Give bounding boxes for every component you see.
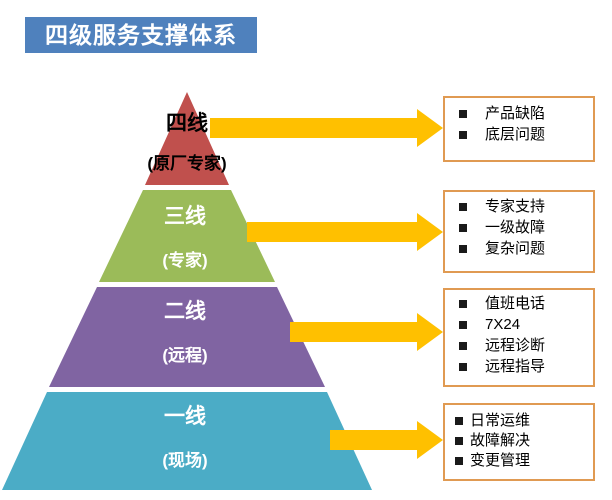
- callout-2-item-2: 远程诊断: [485, 338, 545, 353]
- callout-4-item-1: 底层问题: [485, 127, 545, 142]
- list-item: 故障解决: [445, 433, 593, 448]
- list-item: 远程指导: [445, 359, 593, 374]
- square-bullet-icon: [459, 342, 467, 350]
- diagram-canvas: 四级服务支撑体系 四线 (原厂专家) 三线 (专家) 二线 (远程) 一线 (现…: [0, 0, 612, 500]
- list-item: 复杂问题: [445, 241, 593, 256]
- callout-box-tier-1: 日常运维 故障解决 变更管理: [443, 403, 595, 481]
- list-item: 专家支持: [445, 199, 593, 214]
- square-bullet-icon: [455, 417, 463, 425]
- callout-box-tier-4: 产品缺陷 底层问题: [443, 96, 595, 162]
- list-item: 日常运维: [445, 413, 593, 428]
- callout-4-list: 产品缺陷 底层问题: [445, 106, 593, 142]
- callout-box-tier-2: 值班电话 7X24 远程诊断 远程指导: [443, 288, 595, 387]
- callout-1-list: 日常运维 故障解决 变更管理: [445, 413, 593, 468]
- arrow-to-callout-2: [290, 313, 443, 351]
- list-item: 7X24: [445, 317, 593, 332]
- pyramid-tier-4-shape: [145, 92, 229, 185]
- list-item: 底层问题: [445, 127, 593, 142]
- square-bullet-icon: [455, 457, 463, 465]
- callout-1-item-0: 日常运维: [470, 413, 530, 428]
- callout-2-list: 值班电话 7X24 远程诊断 远程指导: [445, 296, 593, 374]
- square-bullet-icon: [459, 110, 467, 118]
- callout-2-item-1: 7X24: [485, 317, 520, 332]
- list-item: 一级故障: [445, 220, 593, 235]
- pyramid-tier-2-shape: [49, 287, 325, 387]
- callout-1-item-1: 故障解决: [470, 433, 530, 448]
- square-bullet-icon: [459, 300, 467, 308]
- pyramid-tier-1-shape: [2, 392, 372, 490]
- list-item: 远程诊断: [445, 338, 593, 353]
- callout-2-item-0: 值班电话: [485, 296, 545, 311]
- callout-3-item-0: 专家支持: [485, 199, 545, 214]
- square-bullet-icon: [459, 224, 467, 232]
- square-bullet-icon: [459, 131, 467, 139]
- list-item: 变更管理: [445, 453, 593, 468]
- square-bullet-icon: [459, 245, 467, 253]
- arrow-to-callout-3: [247, 213, 443, 251]
- arrow-to-callout-4: [210, 109, 443, 147]
- callout-3-list: 专家支持 一级故障 复杂问题: [445, 199, 593, 256]
- square-bullet-icon: [459, 203, 467, 211]
- square-bullet-icon: [455, 437, 463, 445]
- callout-3-item-1: 一级故障: [485, 220, 545, 235]
- list-item: 值班电话: [445, 296, 593, 311]
- callout-4-item-0: 产品缺陷: [485, 106, 545, 121]
- callout-2-item-3: 远程指导: [485, 359, 545, 374]
- square-bullet-icon: [459, 363, 467, 371]
- list-item: 产品缺陷: [445, 106, 593, 121]
- square-bullet-icon: [459, 321, 467, 329]
- callout-box-tier-3: 专家支持 一级故障 复杂问题: [443, 190, 595, 273]
- callout-1-item-2: 变更管理: [470, 453, 530, 468]
- callout-3-item-2: 复杂问题: [485, 241, 545, 256]
